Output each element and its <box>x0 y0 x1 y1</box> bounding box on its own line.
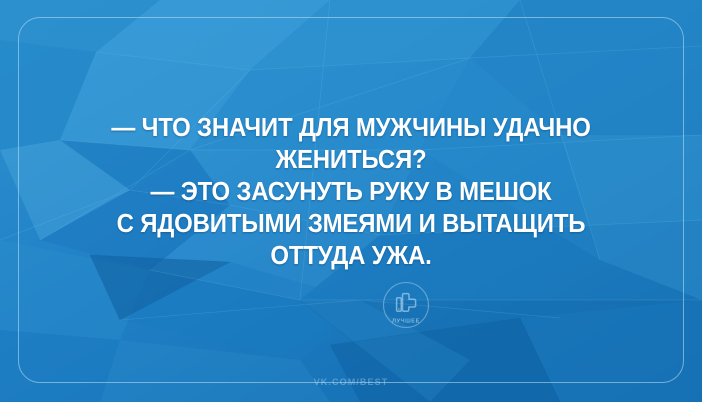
quote-line-3: — ЭТО ЗАСУНУТЬ РУКУ В МЕШОК <box>21 176 681 208</box>
logo-label: ЛУЧШЕЕ <box>392 318 420 324</box>
best-logo-badge: ЛУЧШЕЕ <box>382 281 430 329</box>
thumbs-up-icon: ЛУЧШЕЕ <box>382 281 430 329</box>
footer-watermark: VK.COM/BEST <box>0 372 702 390</box>
footer-watermark-text: VK.COM/BEST <box>314 377 389 387</box>
quote-line-2: ЖЕНИТЬСЯ? <box>21 144 681 176</box>
quote-text-block: — ЧТО ЗНАЧИТ ДЛЯ МУЖЧИНЫ УДАЧНО ЖЕНИТЬСЯ… <box>0 112 702 272</box>
quote-line-5: ОТТУДА УЖА. <box>21 240 681 272</box>
quote-line-1: — ЧТО ЗНАЧИТ ДЛЯ МУЖЧИНЫ УДАЧНО <box>21 112 681 144</box>
quote-line-4: С ЯДОВИТЫМИ ЗМЕЯМИ И ВЫТАЩИТЬ <box>21 208 681 240</box>
quote-card: — ЧТО ЗНАЧИТ ДЛЯ МУЖЧИНЫ УДАЧНО ЖЕНИТЬСЯ… <box>0 0 702 402</box>
